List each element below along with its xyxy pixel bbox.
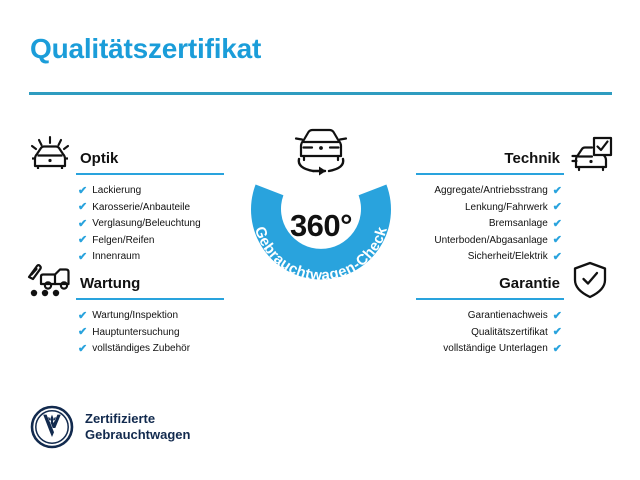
badge-degrees-label: 360° (231, 208, 411, 244)
list-item-label: vollständige Unterlagen (443, 341, 548, 358)
check-icon: ✔ (78, 327, 87, 338)
list-item-label: Lackierung (92, 183, 141, 200)
section-wartung-divider (76, 298, 224, 300)
list-item: Qualitätszertifikat✔ (416, 325, 562, 342)
vw-logo-text: Zertifizierte Gebrauchtwagen (85, 411, 190, 443)
car-rotate-360-icon (283, 118, 359, 180)
check-icon: ✔ (553, 202, 562, 213)
section-optik-header: Optik (24, 132, 224, 176)
car-shine-icon (24, 134, 76, 176)
section-wartung-header: Wartung (24, 257, 224, 301)
section-wartung: Wartung ✔Wartung/Inspektion ✔Hauptunters… (24, 257, 224, 358)
list-item-label: Unterboden/Abgasanlage (434, 233, 547, 250)
list-item: Garantienachweis✔ (416, 308, 562, 325)
list-item: Aggregate/Antriebsstrang✔ (416, 183, 562, 200)
list-item-label: Bremsanlage (489, 216, 548, 233)
page-title: Qualitätszertifikat (30, 33, 261, 65)
car-service-tools-icon (24, 259, 76, 301)
vw-roundel-icon (30, 405, 74, 449)
list-item-label: vollständiges Zubehör (92, 341, 190, 358)
section-wartung-title: Wartung (76, 275, 224, 293)
check-icon: ✔ (78, 311, 87, 322)
section-technik-list: Aggregate/Antriebsstrang✔ Lenkung/Fahrwe… (416, 176, 616, 266)
section-technik-title: Technik (416, 150, 564, 168)
check-icon: ✔ (78, 219, 87, 230)
list-item: ✔Karosserie/Anbauteile (78, 200, 224, 217)
section-optik-title: Optik (76, 150, 224, 168)
vw-logo-text-line1: Zertifizierte (85, 411, 190, 427)
section-garantie: Garantie Garantienachweis✔ Qualitätszert… (416, 257, 616, 358)
section-garantie-list: Garantienachweis✔ Qualitätszertifikat✔ v… (416, 301, 616, 358)
certificate-page: Qualitätszertifikat (0, 0, 640, 480)
check-icon: ✔ (78, 344, 87, 355)
vw-logo-text-line2: Gebrauchtwagen (85, 427, 190, 443)
list-item: ✔Verglasung/Beleuchtung (78, 216, 224, 233)
list-item: Bremsanlage✔ (416, 216, 562, 233)
check-icon: ✔ (553, 219, 562, 230)
list-item-label: Wartung/Inspektion (92, 308, 178, 325)
list-item-label: Karosserie/Anbauteile (92, 200, 190, 217)
list-item-label: Lenkung/Fahrwerk (465, 200, 548, 217)
list-item-label: Aggregate/Antriebsstrang (434, 183, 547, 200)
section-wartung-list: ✔Wartung/Inspektion ✔Hauptuntersuchung ✔… (24, 301, 224, 358)
check-icon: ✔ (553, 344, 562, 355)
list-item: ✔Lackierung (78, 183, 224, 200)
list-item-label: Felgen/Reifen (92, 233, 154, 250)
car-checkbox-icon (564, 134, 616, 176)
check-icon: ✔ (553, 327, 562, 338)
list-item: Unterboden/Abgasanlage✔ (416, 233, 562, 250)
section-optik-list: ✔Lackierung ✔Karosserie/Anbauteile ✔Verg… (24, 176, 224, 266)
badge-360-gebrauchtwagen-check: Gebrauchtwagen-Check 360° (231, 122, 411, 302)
list-item: Lenkung/Fahrwerk✔ (416, 200, 562, 217)
list-item: ✔Felgen/Reifen (78, 233, 224, 250)
list-item-label: Hauptuntersuchung (92, 325, 179, 342)
volkswagen-logo: Zertifizierte Gebrauchtwagen (30, 405, 190, 449)
list-item-label: Garantienachweis (468, 308, 548, 325)
shield-check-icon (564, 259, 616, 301)
check-icon: ✔ (553, 186, 562, 197)
list-item: ✔Hauptuntersuchung (78, 325, 224, 342)
list-item-label: Qualitätszertifikat (471, 325, 548, 342)
section-technik-divider (416, 173, 564, 175)
list-item: ✔vollständiges Zubehör (78, 341, 224, 358)
list-item: vollständige Unterlagen✔ (416, 341, 562, 358)
list-item-label: Verglasung/Beleuchtung (92, 216, 200, 233)
section-optik-divider (76, 173, 224, 175)
check-icon: ✔ (78, 186, 87, 197)
check-icon: ✔ (553, 311, 562, 322)
title-divider (29, 92, 612, 95)
section-garantie-title: Garantie (416, 275, 564, 293)
section-technik: Technik Aggregate/Antriebsstrang✔ Lenkun… (416, 132, 616, 266)
check-icon: ✔ (78, 235, 87, 246)
check-icon: ✔ (78, 202, 87, 213)
section-garantie-header: Garantie (416, 257, 616, 301)
section-technik-header: Technik (416, 132, 616, 176)
list-item: ✔Wartung/Inspektion (78, 308, 224, 325)
section-optik: Optik ✔Lackierung ✔Karosserie/Anbauteile… (24, 132, 224, 266)
section-garantie-divider (416, 298, 564, 300)
check-icon: ✔ (553, 235, 562, 246)
